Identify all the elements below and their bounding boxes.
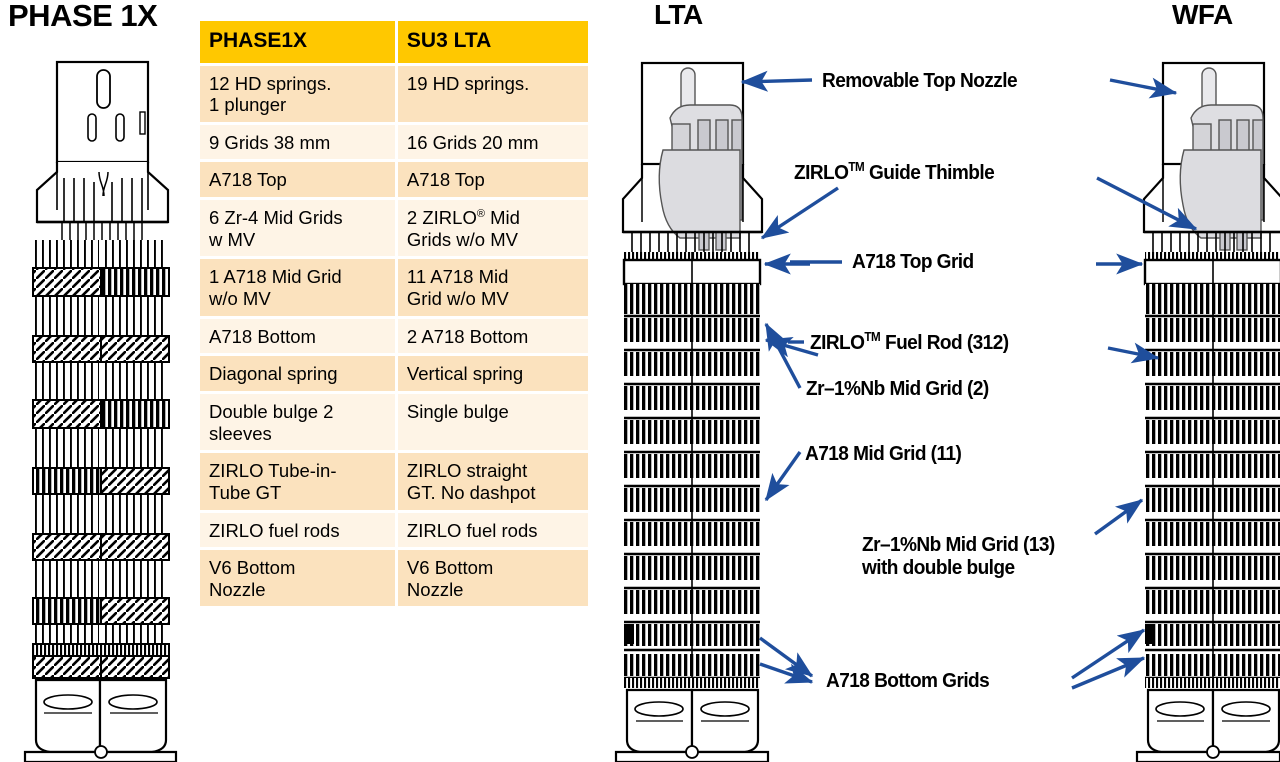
label-zrnb-mid-grid-2: Zr–1%Nb Mid Grid (2) — [806, 378, 989, 401]
arrow-a718-bottom-grids-wfa-1 — [1072, 630, 1144, 678]
label-removable-top-nozzle: Removable Top Nozzle — [822, 70, 1017, 93]
table-row: Double bulge 2sleevesSingle bulge — [200, 394, 588, 450]
table-cell-phase1x: A718 Bottom — [200, 319, 395, 354]
table-row: A718 TopA718 Top — [200, 162, 588, 197]
arrow-zrnb-mid-grid-2 — [766, 324, 800, 388]
phase1x-body — [25, 240, 176, 762]
annotation-connectors — [788, 262, 842, 342]
table-cell-phase1x: 1 A718 Mid Gridw/o MV — [200, 259, 395, 315]
lta-body — [616, 252, 768, 762]
arrow-a718-bottom-grids-lta-2 — [760, 664, 812, 682]
heading-phase-1x: PHASE 1X — [8, 0, 157, 34]
table-row: V6 BottomNozzleV6 BottomNozzle — [200, 550, 588, 606]
table-header-row: PHASE1X SU3 LTA — [200, 21, 588, 63]
table-cell-phase1x: ZIRLO Tube-in-Tube GT — [200, 453, 395, 509]
arrow-removable-top-nozzle-lta — [742, 80, 812, 82]
table-row: 12 HD springs.1 plunger19 HD springs. — [200, 66, 588, 122]
heading-wfa: WFA — [1172, 0, 1233, 31]
wfa-assembly-drawing — [1144, 63, 1280, 252]
diagram-layer — [0, 0, 1280, 762]
table-cell-phase1x: Diagonal spring — [200, 356, 395, 391]
table-cell-su3lta: V6 BottomNozzle — [398, 550, 588, 606]
table-cell-phase1x: Double bulge 2sleeves — [200, 394, 395, 450]
label-zirlo-guide-thimble-tm: TM — [848, 160, 864, 174]
table-cell-phase1x: A718 Top — [200, 162, 395, 197]
arrow-a718-bottom-grids-wfa-2 — [1072, 658, 1144, 688]
heading-lta: LTA — [654, 0, 703, 31]
label-zirlo-guide-thimble-post: Guide Thimble — [864, 161, 994, 184]
comparison-table: PHASE1X SU3 LTA 12 HD springs.1 plunger1… — [197, 18, 591, 609]
table-cell-su3lta: 2 ZIRLO® MidGrids w/o MV — [398, 200, 588, 256]
column-header-su3lta: SU3 LTA — [398, 21, 588, 63]
label-zirlo-fuel-rod-pre: ZIRLO — [810, 331, 864, 354]
label-a718-bottom-grids: A718 Bottom Grids — [826, 670, 989, 693]
lta-assembly-drawing — [623, 63, 762, 252]
table-cell-su3lta: ZIRLO straightGT. No dashpot — [398, 453, 588, 509]
table-row: 9 Grids 38 mm16 Grids 20 mm — [200, 125, 588, 160]
table-cell-su3lta: 11 A718 MidGrid w/o MV — [398, 259, 588, 315]
phase1x-assembly-drawing — [37, 62, 168, 240]
table-row: 1 A718 Mid Gridw/o MV11 A718 MidGrid w/o… — [200, 259, 588, 315]
table-row: ZIRLO fuel rodsZIRLO fuel rods — [200, 513, 588, 548]
column-header-phase1x: PHASE1X — [200, 21, 395, 63]
table-cell-phase1x: ZIRLO fuel rods — [200, 513, 395, 548]
label-a718-top-grid: A718 Top Grid — [852, 251, 974, 274]
arrow-guide-thimble-wfa — [1097, 178, 1196, 229]
table-cell-phase1x: 12 HD springs.1 plunger — [200, 66, 395, 122]
table-cell-phase1x: V6 BottomNozzle — [200, 550, 395, 606]
arrow-a718-mid-grid-11 — [766, 452, 800, 500]
label-zirlo-guide-thimble: ZIRLOTM Guide Thimble — [794, 162, 994, 185]
table-cell-phase1x: 9 Grids 38 mm — [200, 125, 395, 160]
label-zrnb-mid-grid-13: Zr–1%Nb Mid Grid (13) with double bulge — [862, 534, 1055, 580]
arrow-guide-thimble-lta — [762, 188, 838, 238]
table-cell-su3lta: ZIRLO fuel rods — [398, 513, 588, 548]
table-cell-su3lta: 16 Grids 20 mm — [398, 125, 588, 160]
table-cell-phase1x: 6 Zr-4 Mid Gridsw MV — [200, 200, 395, 256]
label-zirlo-fuel-rod: ZIRLOTM Fuel Rod (312) — [810, 332, 1009, 355]
wfa-body — [1137, 252, 1280, 762]
label-a718-mid-grid-11: A718 Mid Grid (11) — [805, 443, 961, 466]
label-zirlo-fuel-rod-post: Fuel Rod (312) — [880, 331, 1008, 354]
arrow-removable-top-nozzle-wfa — [1110, 80, 1176, 93]
table-row: ZIRLO Tube-in-Tube GTZIRLO straightGT. N… — [200, 453, 588, 509]
label-zirlo-fuel-rod-tm: TM — [864, 330, 880, 344]
arrow-a718-bottom-grids-lta-1 — [760, 638, 812, 676]
label-zirlo-guide-thimble-pre: ZIRLO — [794, 161, 848, 184]
arrow-fuel-rod-wfa — [1108, 348, 1158, 358]
table-cell-su3lta: 19 HD springs. — [398, 66, 588, 122]
table-row: 6 Zr-4 Mid Gridsw MV2 ZIRLO® MidGrids w/… — [200, 200, 588, 256]
arrow-zrnb-mid-grid-13 — [1095, 500, 1142, 534]
table-cell-su3lta: A718 Top — [398, 162, 588, 197]
table-cell-su3lta: Vertical spring — [398, 356, 588, 391]
table-row: Diagonal springVertical spring — [200, 356, 588, 391]
table-cell-su3lta: Single bulge — [398, 394, 588, 450]
table-cell-su3lta: 2 A718 Bottom — [398, 319, 588, 354]
table-row: A718 Bottom2 A718 Bottom — [200, 319, 588, 354]
table-body: 12 HD springs.1 plunger19 HD springs.9 G… — [200, 66, 588, 607]
